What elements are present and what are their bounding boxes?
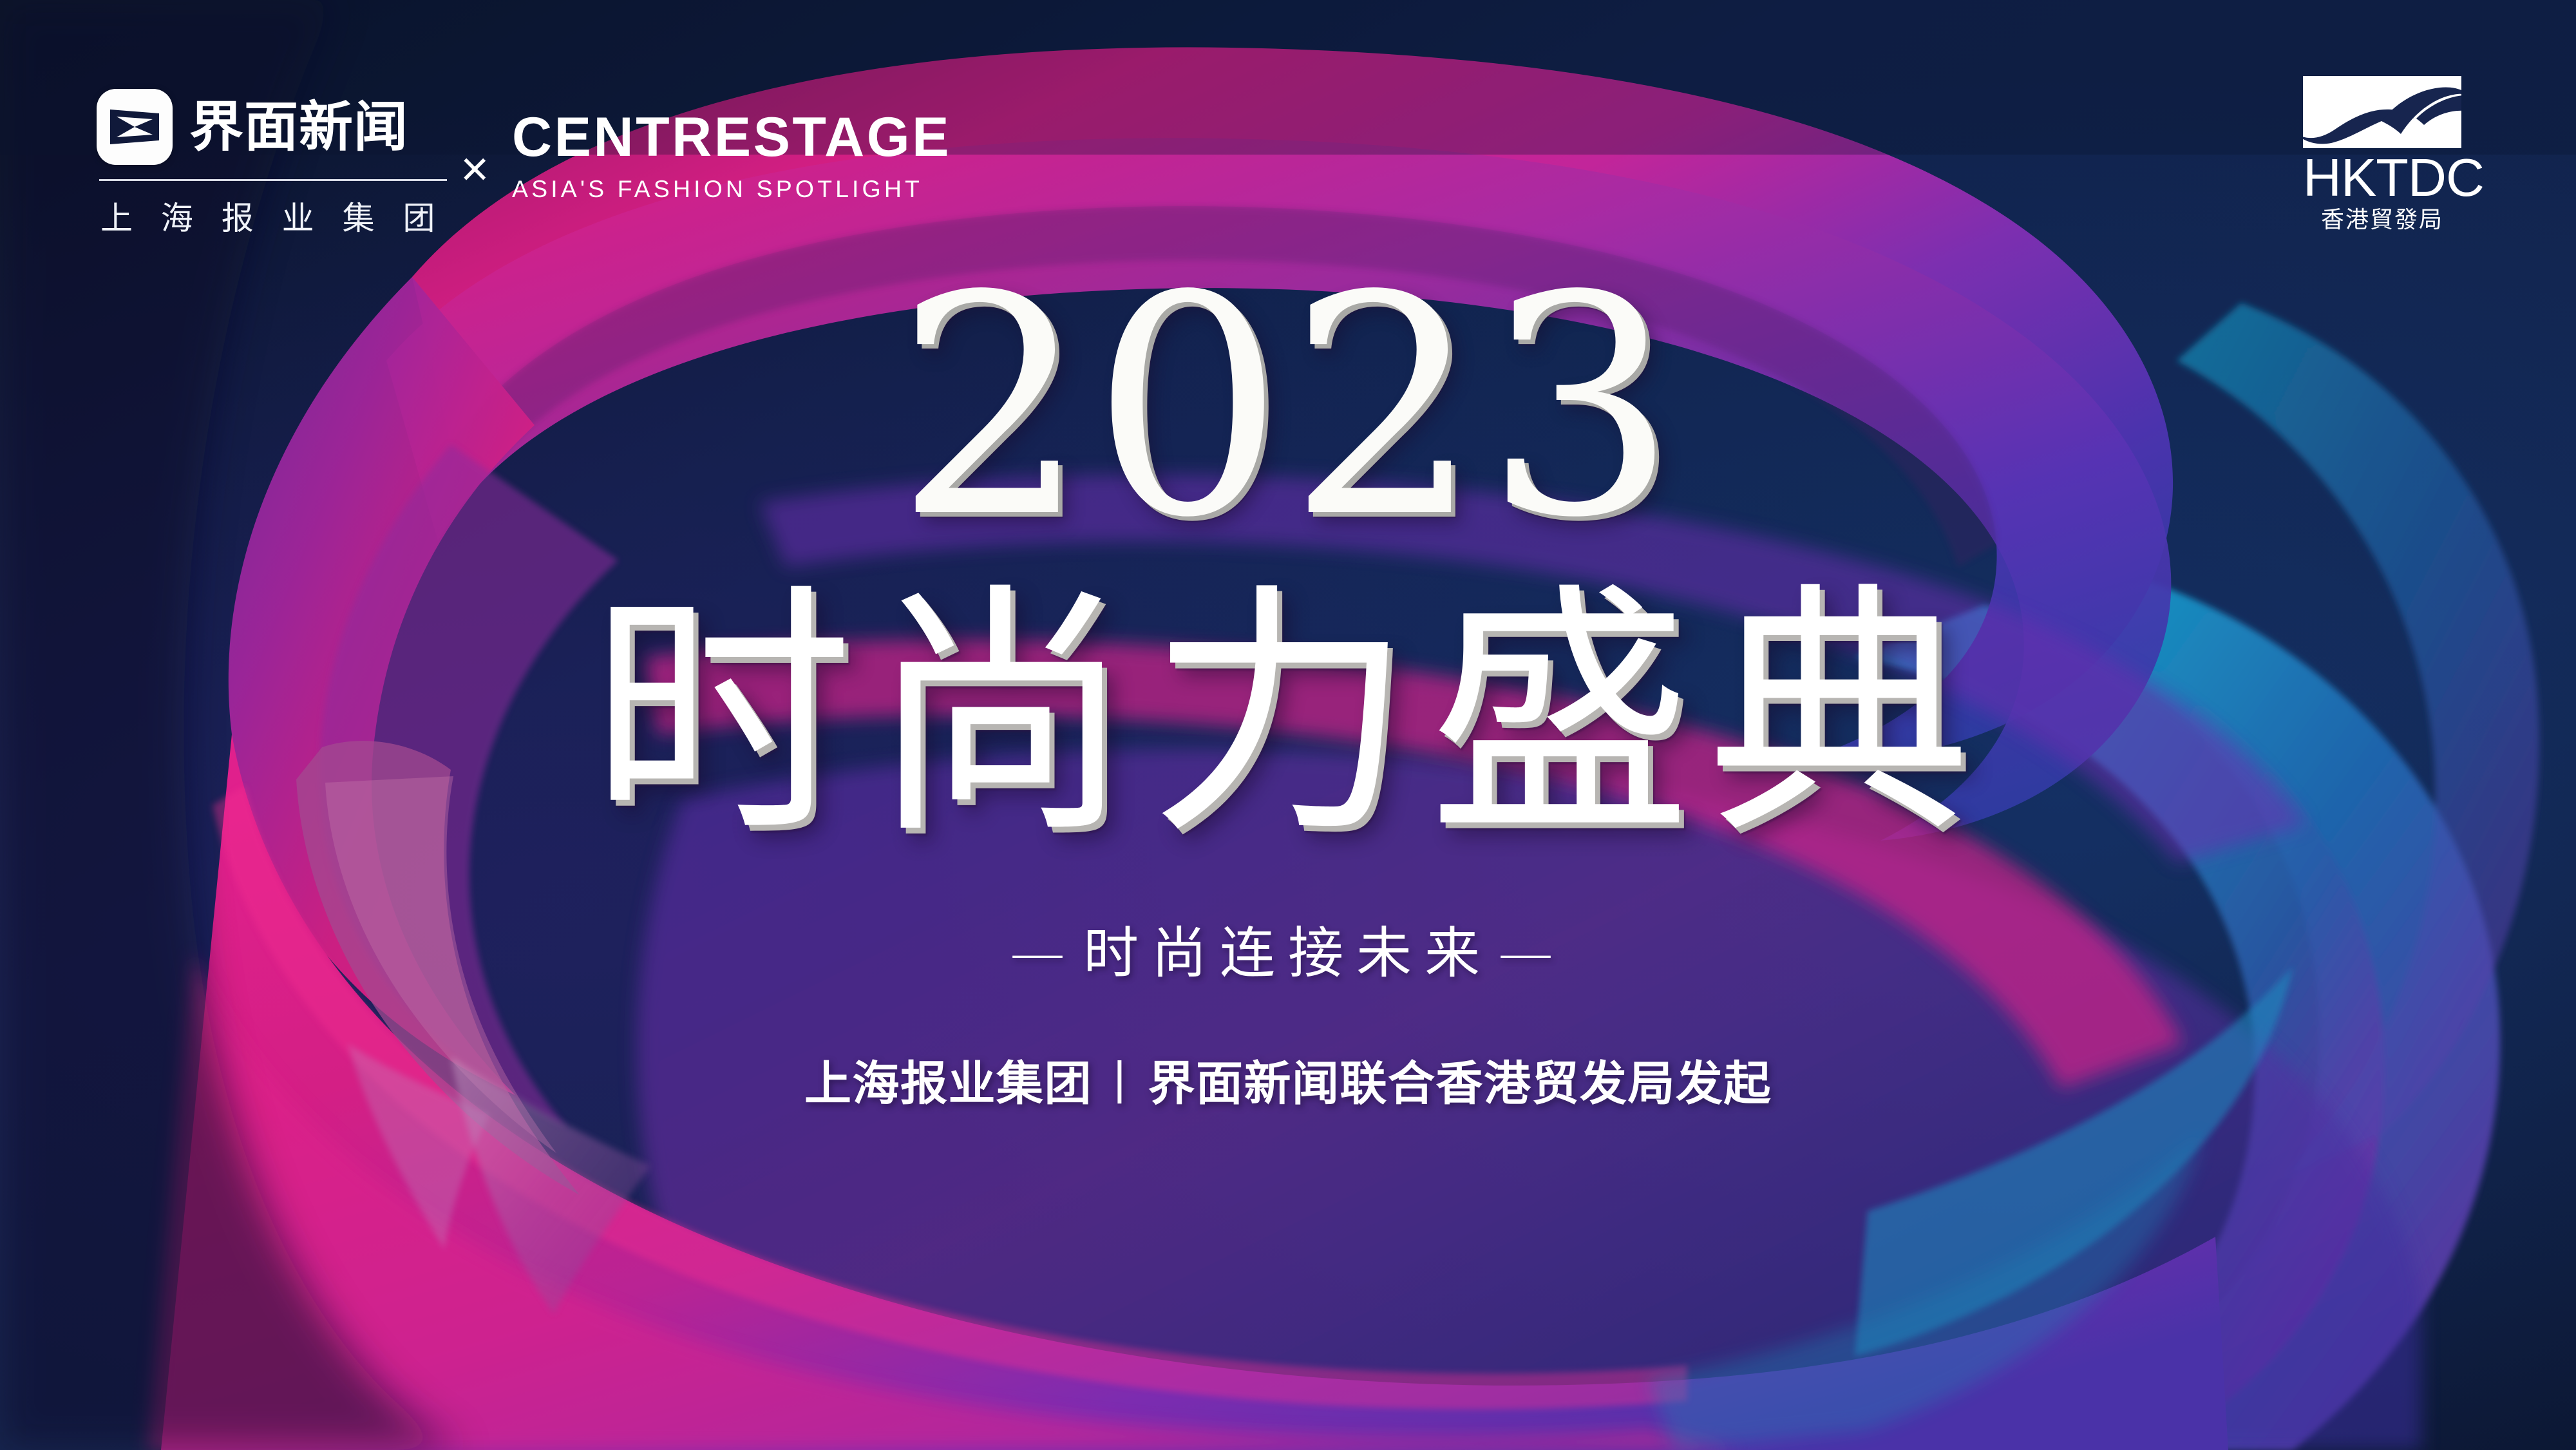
jiemian-logo[interactable]: 界面新闻 上 海 报 业 集 团 xyxy=(97,89,457,239)
poster-canvas: 界面新闻 上 海 报 业 集 团 × CENTRESTAGE ASIA'S FA… xyxy=(0,0,2576,1450)
centrestage-logo[interactable]: CENTRESTAGE ASIA'S FASHION SPOTLIGHT xyxy=(512,110,951,202)
logo-bar: 界面新闻 上 海 报 业 集 团 × CENTRESTAGE ASIA'S FA… xyxy=(0,0,2576,271)
jiemian-divider xyxy=(99,179,447,181)
hktdc-abbr: HKTDC xyxy=(2303,152,2461,204)
hktdc-bird-mark-icon xyxy=(2303,76,2461,148)
hktdc-logo[interactable]: HKTDC 香港貿發局 xyxy=(2303,76,2461,232)
hktdc-name-cn: 香港貿發局 xyxy=(2303,209,2461,232)
centrestage-name: CENTRESTAGE xyxy=(512,110,951,165)
centrestage-tagline: ASIA'S FASHION SPOTLIGHT xyxy=(512,177,951,202)
jiemian-name: 界面新闻 xyxy=(189,100,408,154)
jiemian-app-icon xyxy=(97,89,173,165)
jiemian-parent-label: 上 海 报 业 集 团 xyxy=(97,193,457,239)
logo-separator-x: × xyxy=(460,145,489,194)
